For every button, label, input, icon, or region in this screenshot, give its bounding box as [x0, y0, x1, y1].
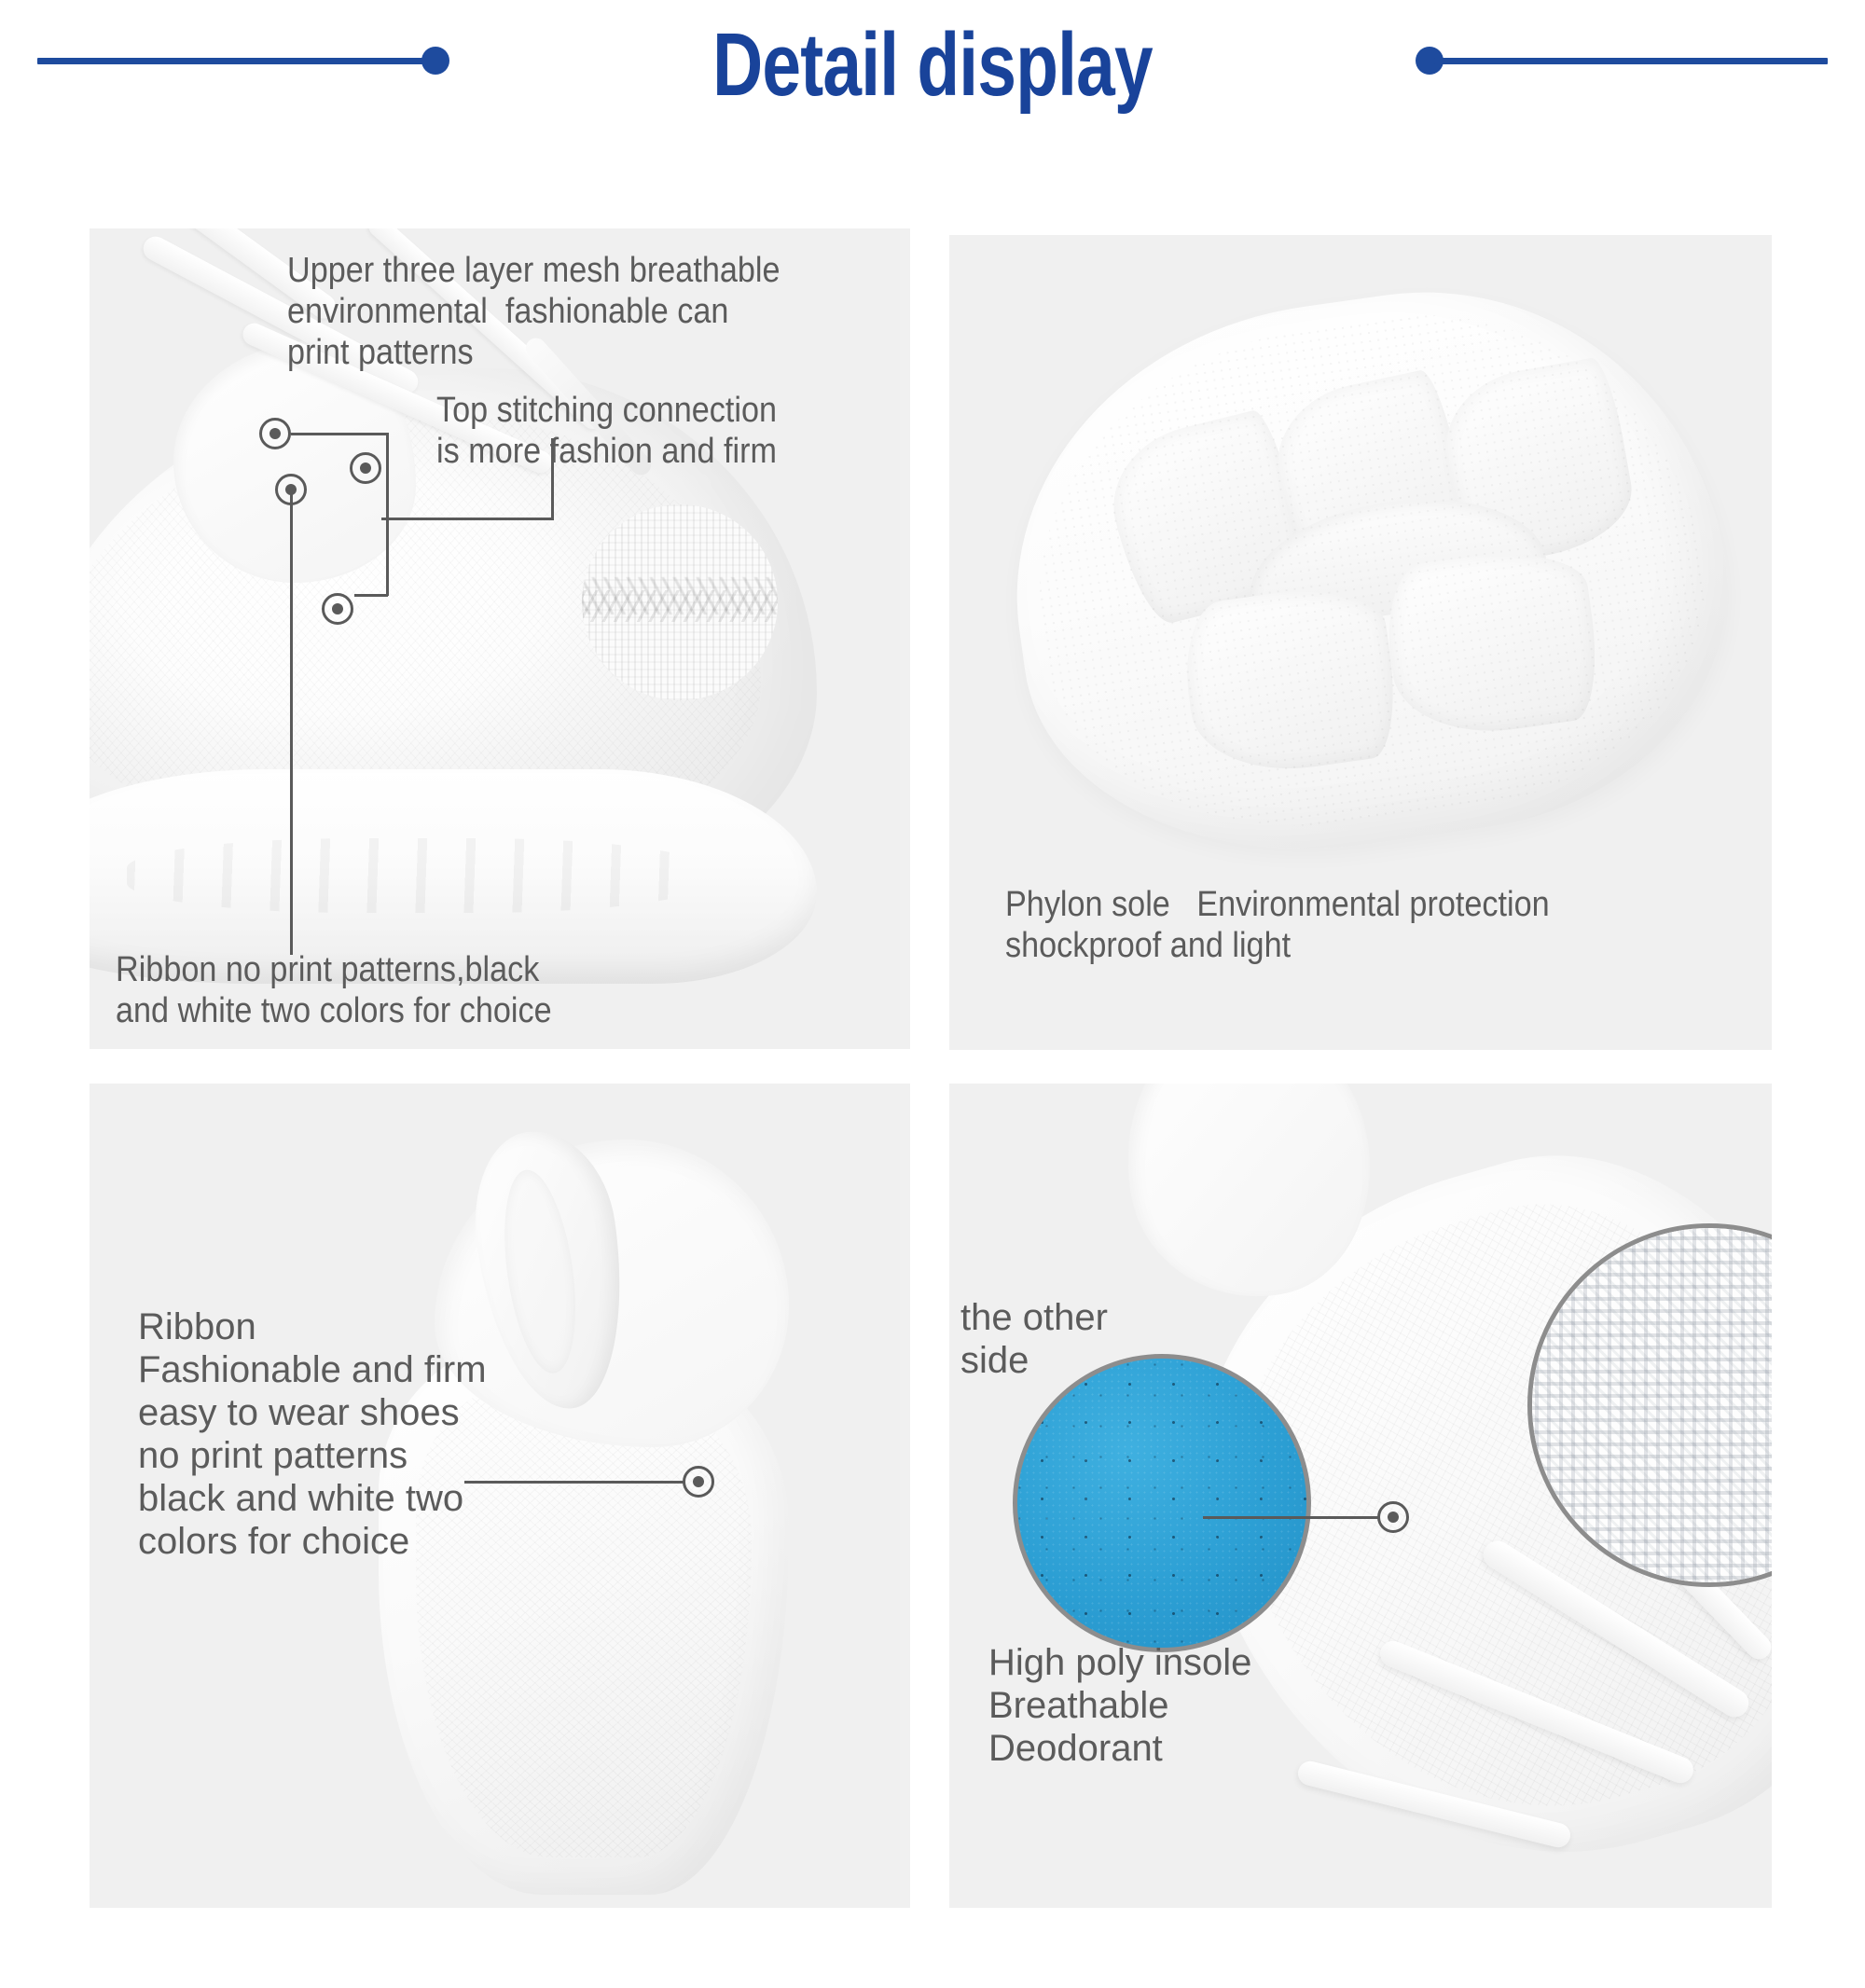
marker-ribbon-heel-icon	[683, 1466, 714, 1498]
leader-line-ribbon-vertical	[290, 489, 293, 955]
marker-stitching-icon	[350, 452, 381, 484]
leader-line-insole	[1203, 1516, 1380, 1519]
annotation-upper-mesh: Upper three layer mesh breathable enviro…	[287, 250, 780, 373]
stitching-magnifier-icon	[582, 504, 778, 700]
detail-display-page: Detail display	[0, 0, 1865, 1988]
mesh-magnifier-icon	[1527, 1223, 1772, 1587]
annotation-the-other-side: the other side	[960, 1296, 1108, 1382]
leader-line-ribbon-heel	[464, 1481, 684, 1484]
marker-ribbon-icon	[275, 474, 307, 505]
header-rule-right	[1434, 58, 1828, 64]
marker-mesh-lower-icon	[322, 593, 353, 625]
marker-upper-mesh-icon	[259, 418, 291, 449]
annotation-ribbon-no-print: Ribbon no print patterns,black and white…	[116, 949, 552, 1031]
leader-line-upper-mesh-end	[354, 594, 388, 597]
annotation-top-stitching: Top stitching connection is more fashion…	[436, 390, 777, 472]
insole-panel	[949, 1084, 1772, 1908]
leader-line-upper-mesh-vertical	[386, 433, 389, 596]
annotation-phylon-sole: Phylon sole Environmental protection sho…	[1005, 884, 1550, 966]
leader-line-stitching	[381, 518, 554, 520]
leader-line-upper-mesh	[291, 433, 389, 435]
blue-insole-magnifier-icon	[1013, 1354, 1311, 1652]
annotation-ribbon-fashionable: Ribbon Fashionable and firm easy to wear…	[138, 1305, 487, 1563]
page-header: Detail display	[0, 0, 1865, 159]
marker-insole-icon	[1377, 1501, 1409, 1533]
annotation-high-poly-insole: High poly insole Breathable Deodorant	[988, 1641, 1251, 1770]
